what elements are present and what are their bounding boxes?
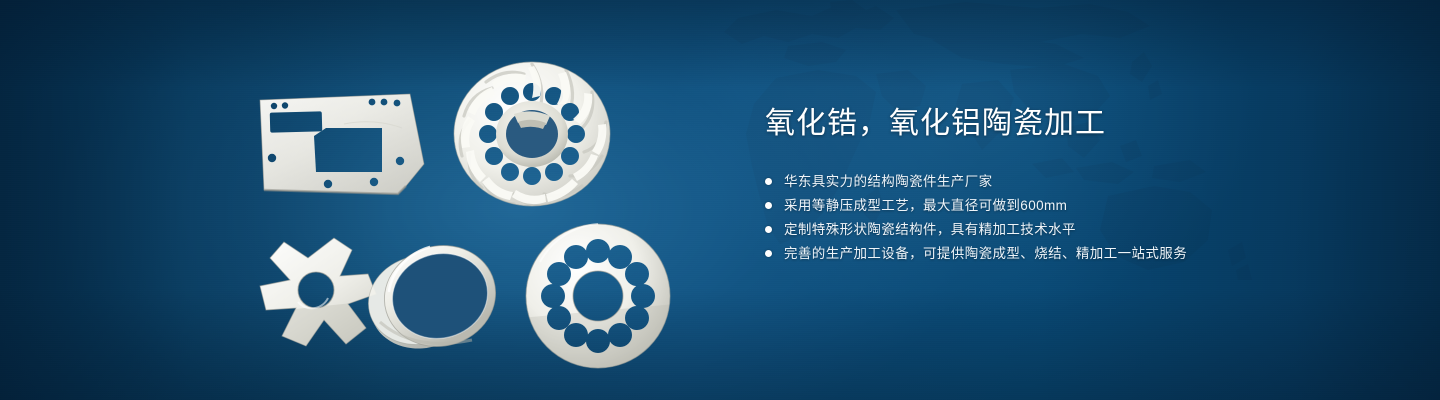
feature-list: 华东具实力的结构陶瓷件生产厂家 采用等静压成型工艺，最大直径可做到600mm 定… xyxy=(765,170,1385,265)
bullet-dot-icon xyxy=(765,202,772,209)
ceramic-impeller-image xyxy=(448,46,616,218)
feature-item-label: 定制特殊形状陶瓷结构件，具有精加工技术水平 xyxy=(784,220,1076,240)
feature-item-label: 采用等静压成型工艺，最大直径可做到600mm xyxy=(784,196,1067,216)
hero-banner: 氧化锆，氧化铝陶瓷加工 华东具实力的结构陶瓷件生产厂家 采用等静压成型工艺，最大… xyxy=(0,0,1440,400)
ceramic-ring-image xyxy=(352,226,514,362)
feature-item: 采用等静压成型工艺，最大直径可做到600mm xyxy=(765,194,1385,217)
banner-copy: 氧化锆，氧化铝陶瓷加工 华东具实力的结构陶瓷件生产厂家 采用等静压成型工艺，最大… xyxy=(765,104,1385,266)
ceramic-disc-image xyxy=(520,218,676,374)
bullet-dot-icon xyxy=(765,226,772,233)
feature-item: 完善的生产加工设备，可提供陶瓷成型、烧结、精加工一站式服务 xyxy=(765,242,1385,265)
feature-item: 华东具实力的结构陶瓷件生产厂家 xyxy=(765,170,1385,193)
feature-item: 定制特殊形状陶瓷结构件，具有精加工技术水平 xyxy=(765,218,1385,241)
bullet-dot-icon xyxy=(765,178,772,185)
ceramic-plate-image xyxy=(248,78,430,200)
feature-item-label: 华东具实力的结构陶瓷件生产厂家 xyxy=(784,172,993,192)
banner-headline: 氧化锆，氧化铝陶瓷加工 xyxy=(765,104,1385,144)
bullet-dot-icon xyxy=(765,250,772,257)
product-photo-group xyxy=(0,0,720,400)
feature-item-label: 完善的生产加工设备，可提供陶瓷成型、烧结、精加工一站式服务 xyxy=(784,244,1187,264)
